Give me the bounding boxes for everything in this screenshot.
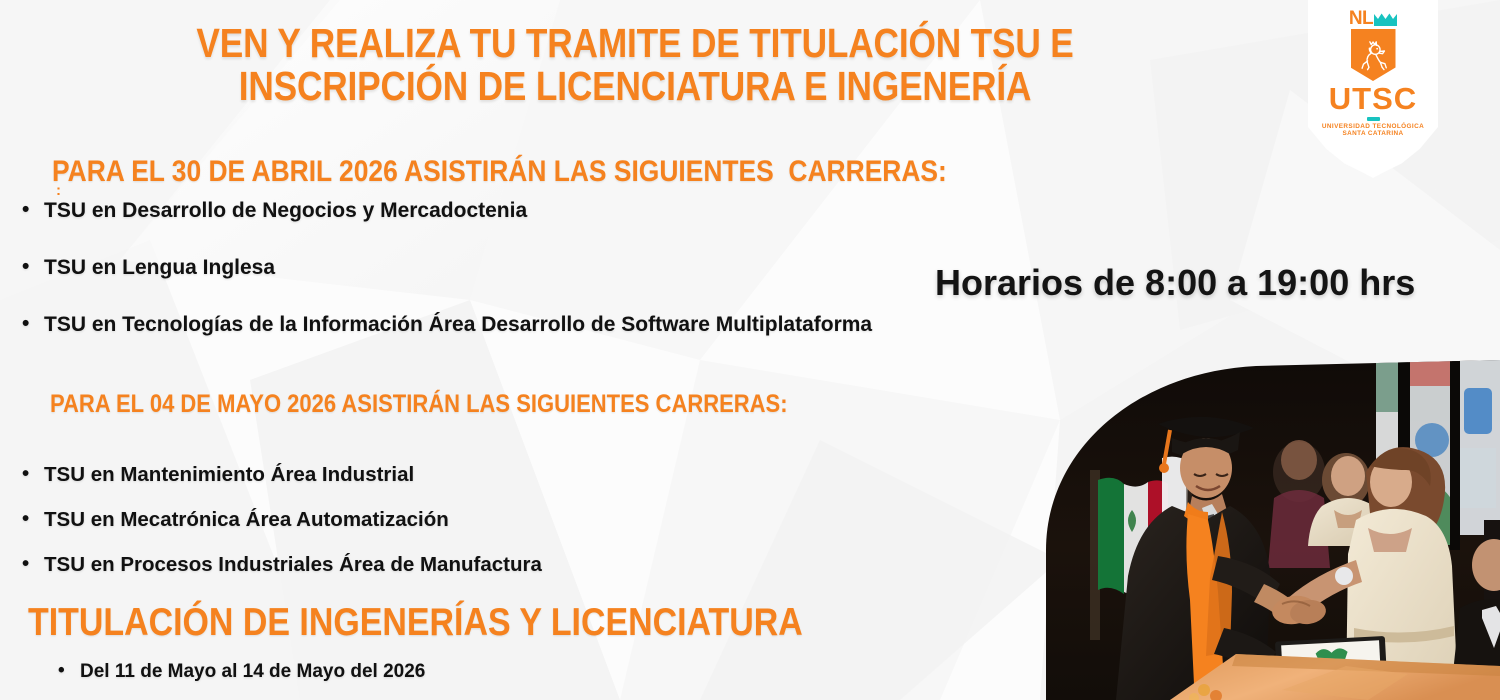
schedule-text: Horarios de 8:00 a 19:00 hrs [935,262,1415,304]
crown-icon [1374,13,1397,26]
list-item: Del 11 de Mayo al 14 de Mayo del 2026 [58,660,425,684]
logo-subtitle-line2: SANTA CATARINA [1342,130,1403,138]
section-heading-april: PARA EL 30 DE ABRIL 2026 ASISTIRÁN LAS S… [52,156,947,188]
logo-nl-row: NL [1349,8,1397,28]
list-item: TSU en Desarrollo de Negocios y Mercadoc… [22,198,872,224]
logo-divider [1367,117,1380,121]
list-item: TSU en Procesos Industriales Área de Man… [22,552,542,577]
section-heading-may: PARA EL 04 DE MAYO 2026 ASISTIRÁN LAS SI… [50,391,788,418]
titulacion-dates-list: Del 11 de Mayo al 14 de Mayo del 2026 [58,660,425,684]
graduation-photo [1046,360,1500,700]
careers-list-may: TSU en Mantenimiento Área Industrial TSU… [22,462,542,597]
stray-colon-mark: : [56,187,61,195]
utsc-logo: NL [1308,0,1438,178]
list-item: TSU en Mecatrónica Área Automatización [22,507,542,532]
careers-list-april: TSU en Desarrollo de Negocios y Mercadoc… [22,198,872,369]
poster-canvas: VEN Y REALIZA TU TRAMITE DE TITULACIÓN T… [0,0,1500,700]
page-title: VEN Y REALIZA TU TRAMITE DE TITULACIÓN T… [175,22,1095,108]
section-heading-titulacion: TITULACIÓN DE INGENERÍAS Y LICENCIATURA [28,602,803,643]
logo-state-abbr: NL [1349,9,1373,28]
lion-icon [1351,29,1396,81]
logo-subtitle-line1: UNIVERSIDAD TECNOLÓGICA [1322,123,1424,131]
logo-acronym: UTSC [1329,83,1417,114]
list-item: TSU en Mantenimiento Área Industrial [22,462,542,487]
list-item: TSU en Tecnologías de la Información Áre… [22,312,872,338]
list-item: TSU en Lengua Inglesa [22,255,872,281]
